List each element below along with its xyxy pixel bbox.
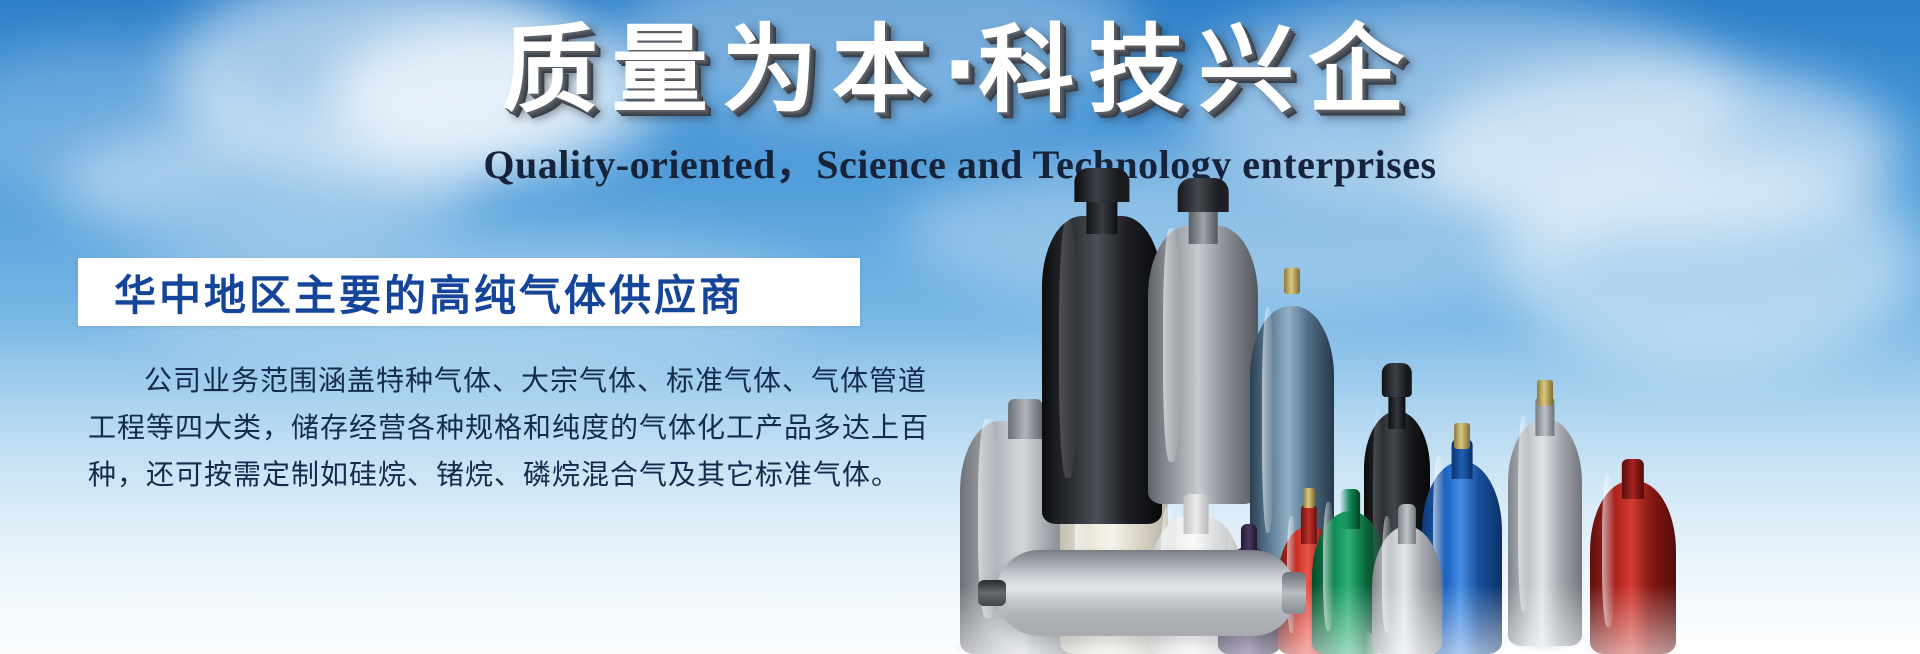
headline-separator: · — [942, 14, 978, 126]
black-tall-cylinder — [1042, 194, 1162, 524]
ground-reflection — [960, 584, 1920, 654]
cylinder-cap — [1382, 363, 1412, 397]
headline-text: 质量为本·科技兴企 — [502, 18, 1418, 124]
cylinder-cap — [1178, 178, 1229, 212]
cylinder-valve — [1454, 423, 1470, 449]
gas-cylinder-product-photo — [960, 134, 1920, 654]
tagline-text: 华中地区主要的高纯气体供应商 — [78, 262, 744, 323]
headline-left: 质量为本 — [502, 14, 942, 126]
cylinder-valve — [1537, 380, 1553, 406]
cylinder-cap — [1074, 168, 1129, 202]
paragraph-line-3: 种，还可按需定制如硅烷、锗烷、磷烷混合气及其它标准气体。 — [88, 452, 868, 499]
tagline-box: 华中地区主要的高纯气体供应商 — [78, 258, 860, 326]
paragraph-line-1: 公司业务范围涵盖特种气体、大宗气体、标准气体、气体管道 — [88, 358, 868, 405]
cylinder-valve — [1284, 268, 1300, 294]
grey-tall-cylinder — [1148, 204, 1258, 504]
description-paragraph: 公司业务范围涵盖特种气体、大宗气体、标准气体、气体管道 工程等四大类，储存经营各… — [88, 358, 868, 499]
promo-banner: 质量为本·科技兴企 Quality-oriented，Science and T… — [0, 0, 1920, 654]
paragraph-line-2: 工程等四大类，储存经营各种规格和纯度的气体化工产品多达上百 — [88, 405, 868, 452]
headline-block: 质量为本·科技兴企 — [0, 18, 1920, 124]
headline-right: 科技兴企 — [978, 14, 1418, 126]
